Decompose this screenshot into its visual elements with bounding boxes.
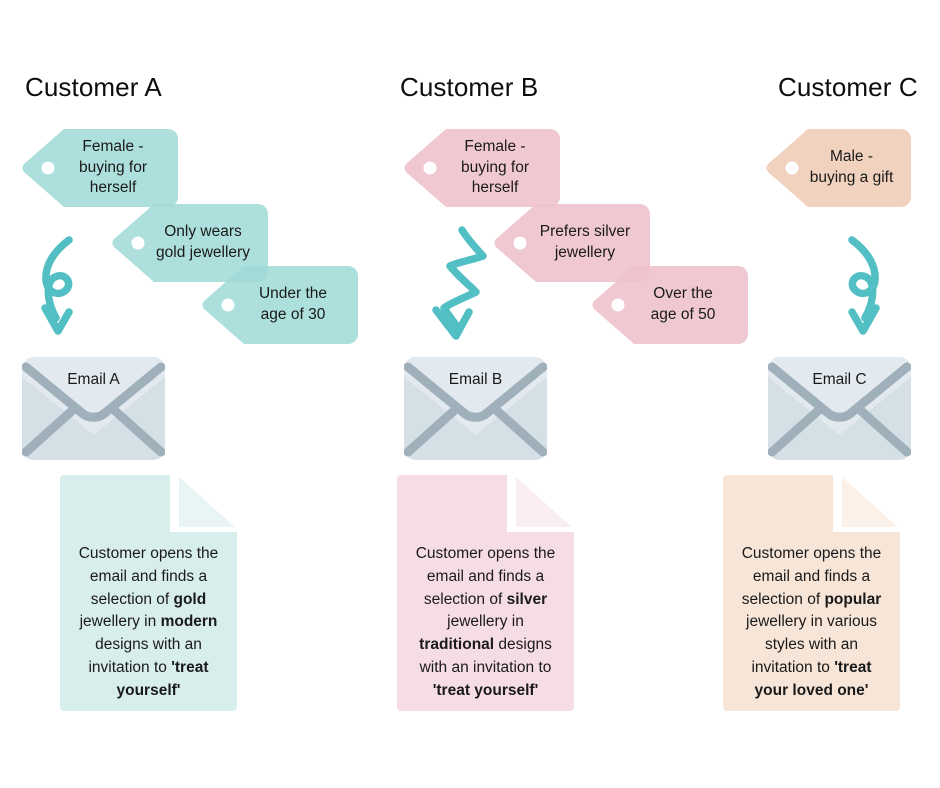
email-envelope-c: Email C <box>768 357 911 460</box>
tag-hole-icon <box>424 162 437 175</box>
tag-gender-b: Female -buying forherself <box>404 129 560 207</box>
outcome-card-b: Customer opens the email and finds a sel… <box>397 475 574 711</box>
curly-arrow-down-icon-a <box>33 236 103 348</box>
tag-hole-icon <box>514 237 527 250</box>
outcome-card-c: Customer opens the email and finds a sel… <box>723 475 900 711</box>
email-label: Email A <box>22 371 165 389</box>
tag-age-b: Over theage of 50 <box>592 266 748 344</box>
email-label: Email C <box>768 371 911 389</box>
tag-hole-icon <box>612 299 625 312</box>
column-title-customer-a: Customer A <box>25 72 162 103</box>
tag-hole-icon <box>42 162 55 175</box>
arrow-stroke <box>46 240 69 318</box>
doc-fold-corner <box>842 477 898 527</box>
email-label: Email B <box>404 371 547 389</box>
column-title-customer-c: Customer C <box>778 72 918 103</box>
arrow-stroke <box>852 240 875 318</box>
column-title-customer-b: Customer B <box>400 72 538 103</box>
diagram-canvas: Customer A Female -buying forherself Onl… <box>0 0 940 788</box>
tag-gender-c: Male -buying a gift <box>766 129 911 207</box>
email-envelope-a: Email A <box>22 357 165 460</box>
outcome-text-a: Customer opens the email and finds a sel… <box>60 543 237 702</box>
tag-gender-a: Female -buying forherself <box>22 129 178 207</box>
outcome-text-b: Customer opens the email and finds a sel… <box>397 543 574 702</box>
tag-age-a: Under theage of 30 <box>202 266 358 344</box>
outcome-card-a: Customer opens the email and finds a sel… <box>60 475 237 711</box>
zigzag-arrow-down-icon-b <box>420 226 500 344</box>
outcome-text-c: Customer opens the email and finds a sel… <box>723 543 900 702</box>
email-envelope-b: Email B <box>404 357 547 460</box>
curly-arrow-down-mirrored-icon-c <box>818 236 888 348</box>
tag-hole-icon <box>786 162 799 175</box>
tag-hole-icon <box>132 237 145 250</box>
tag-hole-icon <box>222 299 235 312</box>
doc-fold-corner <box>179 477 235 527</box>
doc-fold-corner <box>516 477 572 527</box>
arrow-stroke <box>444 230 483 328</box>
